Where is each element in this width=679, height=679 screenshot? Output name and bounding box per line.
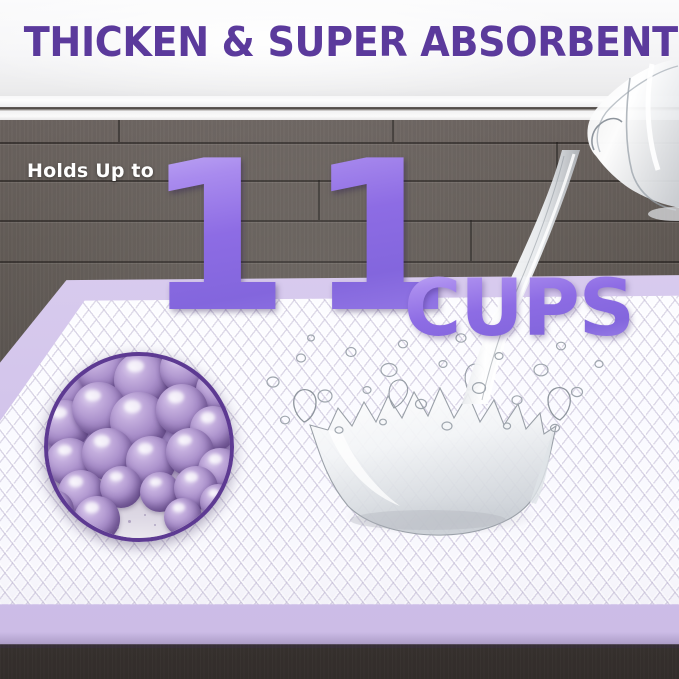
powder-speck xyxy=(154,524,156,526)
pad-bottom-shadow xyxy=(0,632,679,648)
polymer-bead xyxy=(164,498,202,536)
polymer-bead xyxy=(200,484,234,520)
powder-speck xyxy=(116,526,119,529)
polymer-bead xyxy=(74,496,120,542)
capacity-unit: CUPS xyxy=(404,270,634,348)
pitcher-base xyxy=(648,207,679,221)
baseboard-shadow-line xyxy=(0,107,679,109)
glass-pitcher xyxy=(580,60,679,245)
holds-up-to-label: Holds Up to xyxy=(27,160,154,182)
absorbent-beads-inset xyxy=(44,352,234,542)
headline-text: THICKEN & SUPER ABSORBENT xyxy=(24,18,655,66)
pitcher-body xyxy=(587,60,679,210)
product-marketing-scene: THICKEN & SUPER ABSORBENT Holds Up to 11… xyxy=(0,0,679,679)
splash-base-ripple xyxy=(350,510,506,530)
powder-speck xyxy=(128,520,131,523)
powder-speck xyxy=(144,514,146,516)
